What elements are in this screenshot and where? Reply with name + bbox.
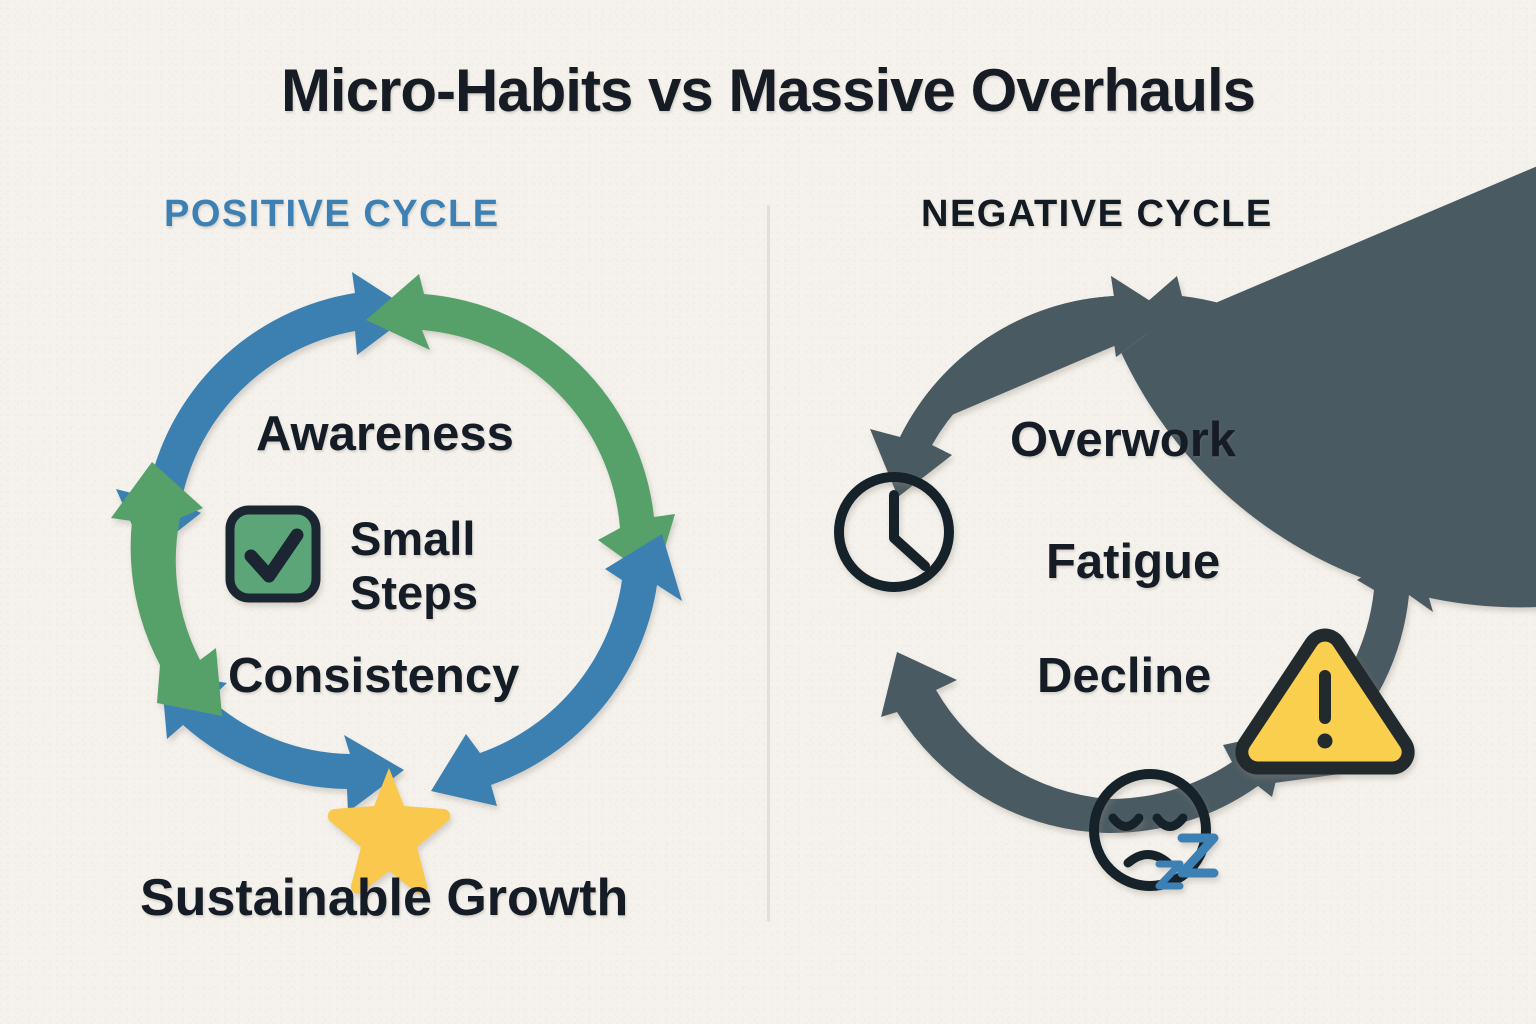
arrow-green-left [111,462,222,716]
checkbox-icon [230,510,316,598]
clock-icon [839,477,949,587]
node-label-decline: Decline [1037,648,1211,704]
node-label-small-steps: Small Steps [350,512,540,620]
node-label-consistency: Consistency [228,648,519,704]
node-label-overwork: Overwork [1010,412,1236,468]
node-label-fatigue: Fatigue [1046,534,1220,590]
node-label-sustainable-growth: Sustainable Growth [140,868,628,928]
node-label-awareness: Awareness [256,406,514,462]
